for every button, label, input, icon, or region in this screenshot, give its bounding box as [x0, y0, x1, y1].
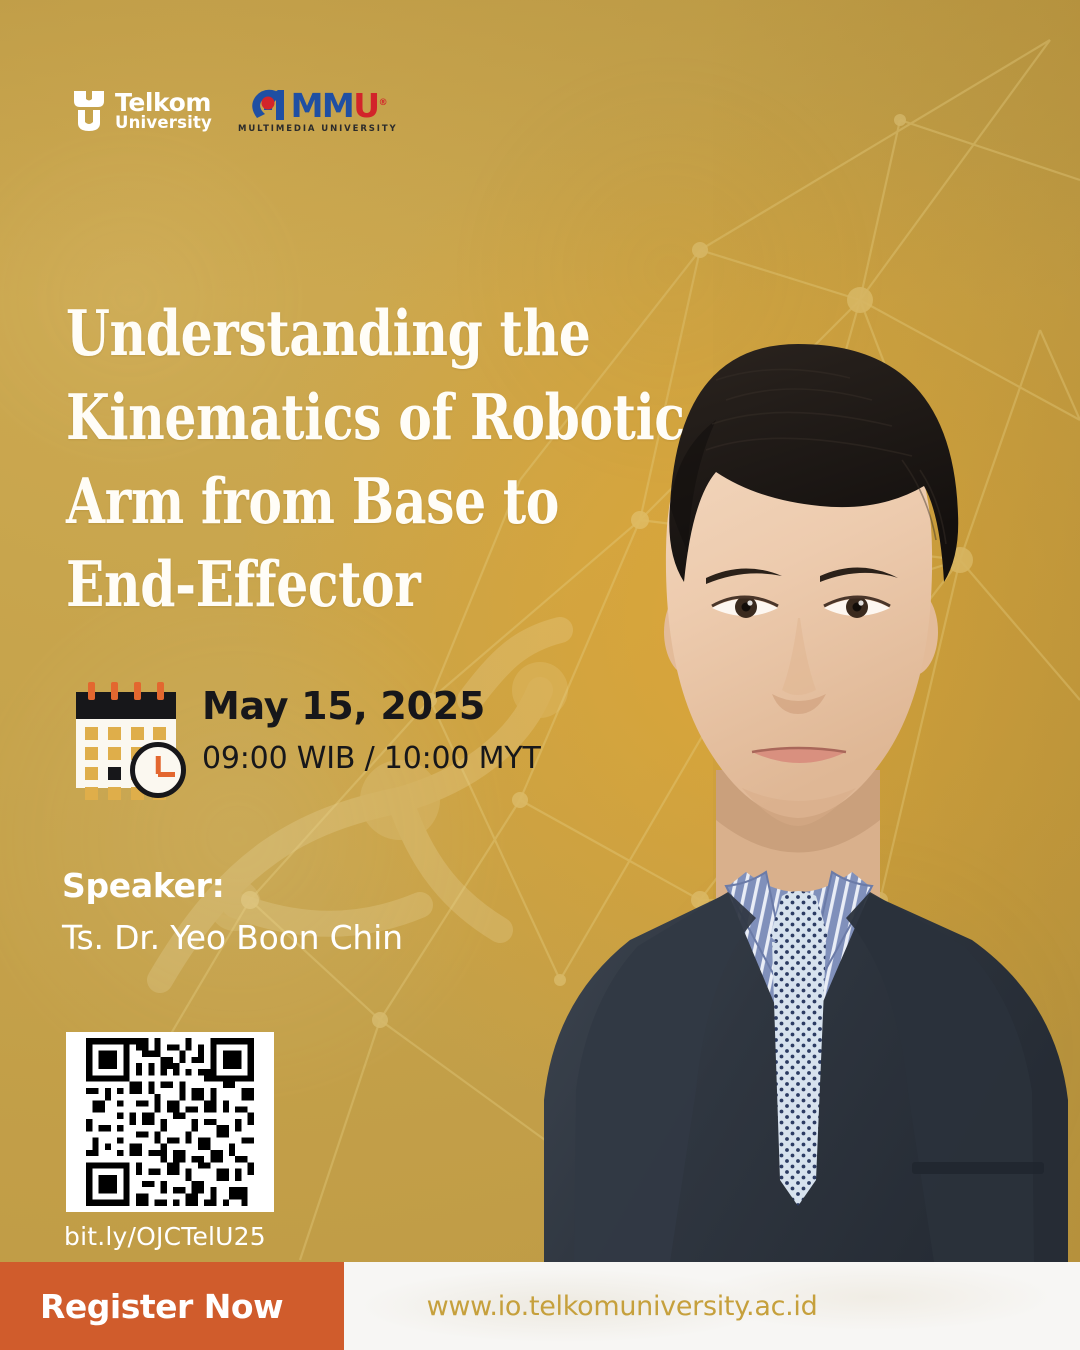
mmu-u-letter: U	[353, 86, 378, 125]
speaker-name: Ts. Dr. Yeo Boon Chin	[62, 918, 403, 957]
register-now-button[interactable]: Register Now	[0, 1262, 344, 1350]
title-line-3: Arm from Base to	[66, 460, 722, 544]
short-link-label: bit.ly/OJCTelU25	[64, 1222, 266, 1251]
mmu-wordmark: MMU®	[250, 88, 386, 122]
mmu-registered-icon: ®	[379, 98, 387, 108]
event-datetime-block: May 15, 2025 09:00 WIB / 10:00 MYT	[66, 676, 541, 798]
logo-row: Telkom University MMU® MULTIMEDIA UNIVER…	[72, 88, 398, 134]
speaker-label: Speaker:	[62, 866, 225, 905]
mmu-swoosh-icon	[250, 88, 290, 122]
title-line-1: Understanding the	[66, 292, 722, 376]
footer-website-panel: www.io.telkomuniversity.ac.id	[344, 1262, 1080, 1350]
website-url: www.io.telkomuniversity.ac.id	[427, 1291, 998, 1322]
mmu-logo: MMU® MULTIMEDIA UNIVERSITY	[238, 88, 398, 134]
event-datetime-text: May 15, 2025 09:00 WIB / 10:00 MYT	[202, 676, 541, 775]
telkom-line2: University	[115, 115, 212, 131]
qr-code-icon[interactable]	[66, 1032, 274, 1212]
mmu-subtitle: MULTIMEDIA UNIVERSITY	[238, 124, 398, 134]
telkom-wordmark: Telkom University	[115, 91, 212, 132]
mmu-letters: MMU®	[291, 89, 386, 122]
footer-bar: Register Now www.io.telkomuniversity.ac.…	[0, 1262, 1080, 1350]
calendar-clock-icon	[66, 676, 188, 798]
telkom-university-logo: Telkom University	[72, 89, 212, 133]
event-date: May 15, 2025	[202, 686, 541, 728]
title-line-4: End-Effector	[66, 543, 722, 627]
page-title: Understanding the Kinematics of Robotic …	[66, 292, 722, 627]
event-poster: Telkom University MMU® MULTIMEDIA UNIVER…	[0, 0, 1080, 1350]
clock-icon	[130, 742, 186, 798]
title-line-2: Kinematics of Robotic	[66, 376, 722, 460]
mmu-mm-letters: MM	[291, 86, 354, 125]
telkom-line1: Telkom	[115, 91, 212, 116]
register-now-label: Register Now	[40, 1287, 283, 1326]
telkom-u-mark-icon	[72, 89, 106, 133]
event-time: 09:00 WIB / 10:00 MYT	[202, 742, 541, 775]
